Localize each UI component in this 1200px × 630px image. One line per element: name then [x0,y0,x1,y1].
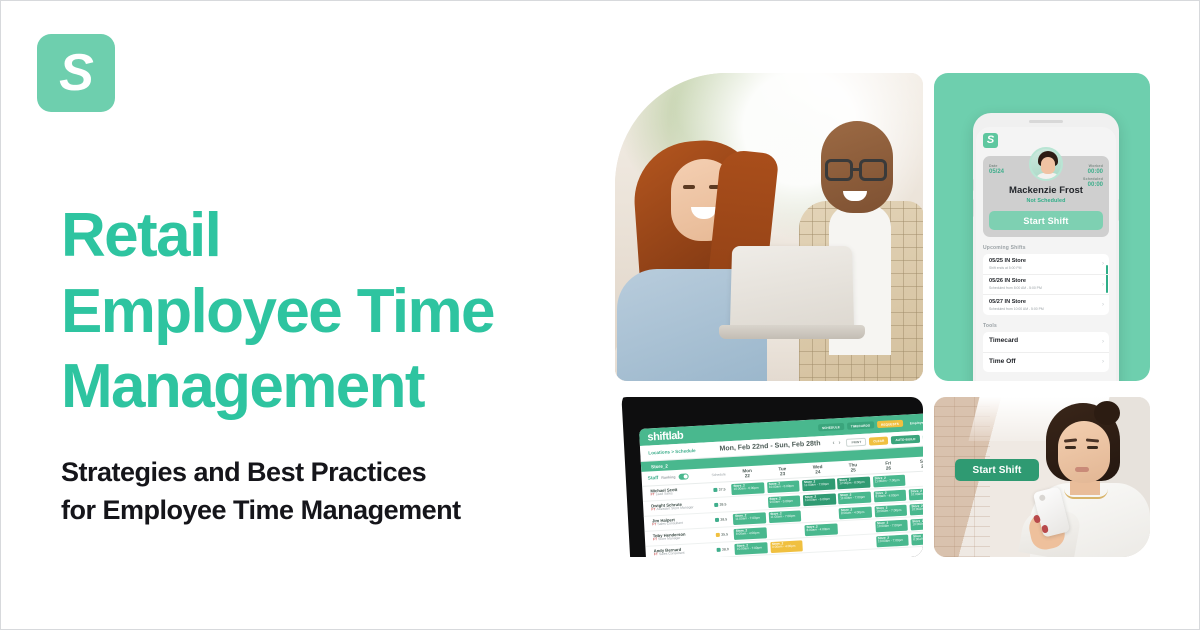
woman-eye-right [1087,446,1098,449]
avatar [1029,147,1063,181]
status-dot-icon [716,533,720,537]
page-subtitle-line-1: Strategies and Best Practices [61,453,621,491]
shift-subtitle: Scheduled from 10:00 AM - 5:00 PM [989,307,1103,312]
list-item[interactable]: 05/27 IN Store Scheduled from 10:00 AM -… [983,295,1109,315]
shift-cell[interactable]: Store_211:00am - 7:00pm [872,474,905,487]
shift-cell[interactable]: Store_28:00am - 4:00pm [873,489,906,502]
shift-cell-wrap[interactable] [910,546,923,557]
shift-time: 10:00am - 6:00pm [734,486,763,491]
day-number: 23 [765,470,801,477]
shift-cell[interactable]: Store_211:00am - 7:00pm [768,510,801,523]
app-brand: shiftlab [647,429,684,443]
day-header-sat: Sat 27 [906,457,923,469]
start-shift-overlay-button[interactable]: Start Shift [955,459,1039,481]
shift-cell-wrap[interactable] [804,536,840,552]
day-number: 22 [730,472,766,479]
upcoming-shifts-title: Upcoming Shifts [983,245,1109,251]
chevron-right-icon: › [1102,302,1104,308]
page-title-line-3: Management [61,349,621,425]
status-badge: Not Scheduled [989,198,1103,204]
shift-cell-wrap[interactable]: Store_211:00am - 7:00pm [801,476,837,492]
day-header-fri: Fri 26 [870,459,906,471]
date-range-label: Mon, Feb 22nd - Sun, Feb 28th [719,440,820,452]
shift-title: 05/27 IN Store [989,299,1103,306]
hours-cell: 39.5 [709,502,731,507]
shift-cell-wrap[interactable] [840,549,876,557]
woman-phone-photo: Start Shift [934,397,1150,557]
shift-cell-wrap[interactable]: Store_210:00am - 6:00pm [765,478,801,494]
shift-cell-wrap[interactable]: Store_210:00am - 4:00pm [909,516,923,532]
phone-screen: S Date 05/24 Worked 00:00 [976,127,1116,381]
shift-time: 10:00am - 7:00pm [878,539,907,544]
list-item-timecard[interactable]: Timecard › [983,332,1109,353]
shift-cell[interactable]: Store_210:00am - 7:00pm [876,534,909,547]
shift-time: 11:00am - 7:00pm [875,479,904,484]
shift-subtitle: Scheduled from 8:00 AM - 5:00 PM [989,286,1103,291]
employee-cell: Michael Scott Lead Sales [642,486,708,498]
man-glasses-right [859,159,887,181]
shift-cell[interactable]: Store_29:00am - 4:00pm [770,540,803,553]
woman-lips [1075,467,1089,472]
shift-cell-wrap[interactable] [805,551,841,557]
upcoming-shifts-list: 05/25 IN Store Shift ends at 5:00 PM › 0… [983,254,1109,315]
shift-cell-wrap[interactable]: Store_28:00am - 4:00pm [803,521,839,537]
employee-role: Sales Consultant [654,551,712,557]
mobile-app-panel: S Date 05/24 Worked 00:00 [934,73,1150,381]
shift-cell[interactable]: Store_210:00am - 7:00pm [874,504,907,517]
shift-cell[interactable]: Store_211:00am - 7:00pm [838,491,871,504]
shift-cell-wrap[interactable] [906,471,923,487]
employee-role: Lead Sales [651,491,709,498]
shift-cell-empty[interactable] [769,525,802,538]
man-glasses-left [825,159,853,181]
tablet-mockup: shiftlab SCHEDULE TIMECARDS REQUESTS Emp… [615,397,923,557]
page-title: Retail Employee Time Management [61,198,621,425]
app-logo-letter: S [987,135,994,146]
chevron-right-icon: › [1102,282,1104,288]
shift-cell-wrap[interactable]: Store_210:00am - 7:00pm [874,533,910,549]
shift-cell-wrap[interactable]: Store_29:00am - 5:00pm [766,493,802,509]
shift-cell-wrap[interactable]: Store_210:00am - 6:00pm [801,491,837,507]
shift-cell[interactable]: Store_211:00am - 7:00pm [733,512,766,525]
shift-cell-empty[interactable] [732,497,765,510]
shift-cell-wrap[interactable]: Store_28:00am - 4:00pm [910,531,923,547]
shift-cell-wrap[interactable]: Store_28:00am - 4:00pm [732,525,768,541]
shift-cell[interactable]: Store_210:00am - 7:00pm [735,542,768,555]
day-number: 27 [906,463,923,470]
auto-build-button[interactable]: AUTO-BUILD [891,434,920,444]
schedule-app-screen: shiftlab SCHEDULE TIMECARDS REQUESTS Emp… [639,413,923,557]
list-item[interactable]: 05/26 IN Store Scheduled from 8:00 AM - … [983,275,1109,296]
hours-cell: 35.5 [711,532,733,537]
woman-eye-left [1065,446,1076,449]
shift-cell-empty[interactable] [803,508,836,521]
shift-cell-empty[interactable] [771,555,804,557]
store-label: Store_2 [651,463,668,469]
ranking-toggle[interactable] [678,474,688,480]
page-title-line-2: Employee Time [61,274,621,350]
schedule-column-header: Schedule [707,472,729,477]
shift-cell-wrap[interactable]: Store_210:00am - 7:00pm [873,503,909,519]
date-value: 05/24 [989,169,1004,177]
worked-value: 00:00 [1083,169,1103,177]
date-nav: ‹ › [832,440,840,446]
shift-cell-empty[interactable] [840,536,873,549]
shift-cell-wrap[interactable]: Store_28:00am - 4:00pm [872,488,908,504]
necklace [1064,489,1108,499]
shift-time: 10:00am - 4:00pm [912,522,923,527]
shift-time: 11:00am - 7:00pm [804,483,833,488]
brand-logo: S [37,34,115,112]
shift-time: 8:00am - 4:00pm [807,528,836,533]
shift-cell-wrap[interactable]: Store_210:00am - 6:00pm [907,486,923,502]
tool-label: Timecard [989,337,1103,346]
shift-cell[interactable]: Store_28:00am - 4:00pm [839,506,872,519]
woman-eye-left [683,185,695,189]
shift-cell-wrap[interactable] [875,547,911,557]
print-button[interactable]: PRINT [846,437,866,446]
day-header-wed: Wed 24 [800,463,836,475]
list-item[interactable]: 05/25 IN Store Shift ends at 5:00 PM › [983,254,1109,275]
laptop-screen [730,246,854,332]
chevron-right-icon: › [1102,339,1104,345]
shift-cell[interactable]: Store_210:00am - 6:00pm [908,487,923,500]
shift-time: 11:00am - 7:00pm [770,515,799,520]
phone-silent-switch [973,179,974,191]
shift-cell-empty[interactable] [805,538,838,551]
shift-time: 8:00am - 4:00pm [875,494,904,499]
day-header-thu: Thu 25 [835,461,871,473]
list-item-time-off[interactable]: Time Off › [983,353,1109,373]
shift-cell-empty[interactable] [806,553,839,557]
scheduled-value: 00:00 [1083,182,1103,190]
shift-time: 10:00am - 7:00pm [876,509,905,514]
shift-cell-wrap[interactable] [839,534,875,550]
employee-cell: Andy Bernard Sales Consultant [646,546,712,557]
shift-title: 05/25 IN Store [989,258,1103,265]
hours-value: 38.5 [720,517,727,521]
shift-cell-wrap[interactable]: Store_28:00am - 4:00pm [837,504,873,520]
laptop-base [719,325,865,339]
shift-cell[interactable]: Store_28:00am - 4:00pm [911,532,923,545]
shift-cell-empty[interactable] [840,521,873,534]
shift-cell[interactable]: Store_210:00am - 4:00pm [910,517,923,530]
phone-speaker [1029,120,1063,123]
page-subtitle: Strategies and Best Practices for Employ… [61,453,621,530]
prev-week-icon[interactable]: ‹ [832,440,834,446]
woman-hair-bun [1094,401,1120,425]
shift-time: 10:00am - 6:00pm [911,492,923,497]
phone-power-button [1118,199,1119,221]
poster-canvas: S Retail Employee Time Management Strate… [0,0,1200,630]
hours-value: 35.5 [721,532,728,536]
shift-cell-wrap[interactable] [731,495,767,511]
hours-cell: 38.0 [712,547,734,552]
shift-cell[interactable]: Store_28:00am - 4:00pm [734,527,767,540]
day-number: 25 [835,467,871,474]
shift-cell-wrap[interactable]: Store_211:00am - 7:00pm [837,489,873,505]
status-dot-icon [713,488,717,492]
shift-cell-wrap[interactable]: Store_211:00am - 7:00pm [732,510,768,526]
shift-time: 11:00am - 7:00pm [735,516,764,521]
day-header-tue: Tue 23 [765,465,801,477]
staff-column-header: Staff Ranking [642,473,708,482]
day-header-mon: Mon 22 [729,467,765,479]
shift-cell[interactable]: Store_210:00am - 7:00pm [875,519,908,532]
shift-cell-empty[interactable] [908,472,923,485]
shift-cell[interactable]: Store_210:00am - 6:00pm [803,493,836,506]
avatar-face [1041,157,1055,174]
shift-cell[interactable]: Store_212:00pm - 8:00pm [837,476,870,489]
clock-in-card: Date 05/24 Worked 00:00 Scheduled 00:00 … [983,156,1109,237]
shift-time: 9:00am - 4:00pm [772,544,801,549]
shift-cell-wrap[interactable]: Store_210:00am - 7:00pm [733,540,769,556]
shift-cell-empty[interactable] [841,551,874,557]
nav-item-schedule[interactable]: SCHEDULE [818,423,844,431]
shift-cell-wrap[interactable] [802,506,838,522]
next-week-icon[interactable]: › [838,440,840,446]
shift-cell[interactable]: Store_210:00am - 6:00pm [909,502,923,515]
team-photo [615,73,923,381]
shift-cell[interactable]: Store_210:00am - 6:00pm [731,482,764,495]
employee-role: Assistant Store Manager [651,506,709,513]
woman-face [1058,421,1110,483]
shift-cell-wrap[interactable] [768,523,804,539]
shift-time: 8:00am - 4:00pm [841,511,870,516]
nav-item-employees[interactable]: Employees [906,418,923,426]
breadcrumb[interactable]: Locations > Schedule [648,448,696,456]
chevron-right-icon: › [1102,261,1104,267]
time-meta: Worked 00:00 Scheduled 00:00 [1083,164,1103,190]
day-number: 24 [800,468,836,475]
shift-cell-wrap[interactable]: Store_210:00am - 6:00pm [908,501,923,517]
employee-role: Sales Consultant [652,521,710,528]
hours-cell: 37.5 [708,487,730,492]
shift-cell-empty[interactable] [912,547,923,557]
start-shift-button[interactable]: Start Shift [989,211,1103,230]
shift-cell-wrap[interactable]: Store_210:00am - 6:00pm [730,480,766,496]
shift-cell-wrap[interactable] [838,519,874,535]
schedule-grid: Staff Ranking Schedule Mon 22 Tue 23 We [641,456,923,557]
hours-cell: 38.5 [710,517,732,522]
shift-title: 05/26 IN Store [989,278,1103,285]
phone-mockup: S Date 05/24 Worked 00:00 [973,113,1119,381]
page-subtitle-line-2: for Employee Time Management [61,491,621,529]
shift-cell[interactable]: Store_28:00am - 4:00pm [804,523,837,536]
shift-cell-wrap[interactable]: Store_211:00am - 7:00pm [767,508,803,524]
shift-cell-wrap[interactable]: Store_29:00am - 4:00pm [769,538,805,554]
edit-button[interactable]: EDIT [922,433,923,442]
date-meta: Date 05/24 [989,164,1004,177]
shift-time: 10:00am - 6:00pm [912,507,923,512]
shift-time: 8:00am - 4:00pm [736,531,765,536]
tools-list: Timecard › Time Off › [983,332,1109,372]
nav-item-timecards[interactable]: TIMECARDS [847,421,875,429]
phone-volume-button [973,199,974,217]
toolbar-actions: PRINT CLEAR AUTO-BUILD EDIT [846,433,923,446]
app-logo-icon: S [983,133,998,148]
shift-cell-wrap[interactable]: Store_210:00am - 7:00pm [874,518,910,534]
day-number: 26 [871,465,907,472]
nav-item-requests[interactable]: REQUESTS [877,420,903,428]
employee-cell: Dwight Schrute Assistant Store Manager [643,501,709,513]
shift-time: 10:00am - 7:00pm [877,524,906,529]
staff-label: Staff [648,476,659,482]
page-title-line-1: Retail [61,198,621,274]
shift-cell-empty[interactable] [876,549,909,557]
shift-time: 10:00am - 6:00pm [805,498,834,503]
hours-value: 38.0 [722,547,729,551]
employee-cell: Toby Henderson Store Manager [645,531,711,543]
shift-time: 9:00am - 5:00pm [770,500,799,505]
shift-time: 11:00am - 7:00pm [840,496,869,501]
hours-value: 37.5 [719,487,726,491]
man-glasses-bridge [853,168,860,171]
shift-time: 8:00am - 4:00pm [913,537,923,542]
status-dot-icon [716,548,720,552]
shift-time: 10:00am - 6:00pm [769,485,798,490]
clear-button[interactable]: CLEAR [869,436,889,445]
shift-cell-wrap[interactable]: Store_212:00pm - 8:00pm [836,475,872,491]
status-dot-icon [715,518,719,522]
brand-logo-letter: S [59,47,93,99]
app-nav: SCHEDULE TIMECARDS REQUESTS Employees [818,418,923,431]
shift-time: 12:00pm - 8:00pm [839,481,868,486]
status-dot-icon [714,503,718,507]
avatar-body [1035,173,1061,181]
hours-value: 39.5 [719,502,726,506]
chevron-right-icon: › [1102,359,1104,365]
shift-cell[interactable]: Store_211:00am - 7:00pm [802,478,835,491]
ranking-label: Ranking [661,475,675,480]
shift-time: 10:00am - 7:00pm [737,546,766,551]
shift-cell-wrap[interactable]: Store_211:00am - 7:00pm [871,473,907,489]
tool-label: Time Off [989,358,1103,367]
tools-title: Tools [983,323,1109,329]
shift-cell[interactable]: Store_210:00am - 6:00pm [767,480,800,493]
shift-cell[interactable]: Store_29:00am - 5:00pm [767,495,800,508]
employee-cell: Jim Halpert Sales Consultant [644,516,710,528]
shift-subtitle: Shift ends at 5:00 PM [989,266,1103,271]
